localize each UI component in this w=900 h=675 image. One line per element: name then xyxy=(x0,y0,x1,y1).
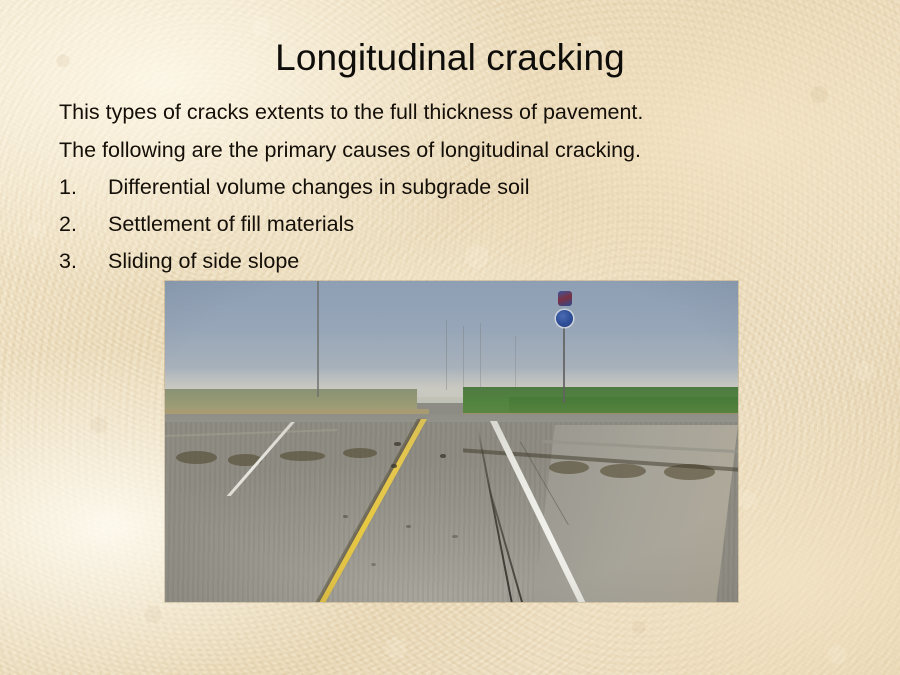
list-item: 2. Settlement of fill materials xyxy=(59,206,759,243)
list-item: 1. Differential volume changes in subgra… xyxy=(59,169,759,206)
causes-list: 1. Differential volume changes in subgra… xyxy=(59,169,759,280)
road-sign-upper-plate-icon xyxy=(558,291,572,306)
utility-pole xyxy=(446,320,447,391)
brush-clump xyxy=(549,461,589,474)
pavement-debris xyxy=(406,525,411,528)
slide-body: This types of cracks extents to the full… xyxy=(59,93,759,280)
slide: Longitudinal cracking This types of crac… xyxy=(0,0,900,675)
brush-clump xyxy=(343,448,377,458)
intro-paragraph-1: This types of cracks extents to the full… xyxy=(59,93,759,131)
list-item-number: 2. xyxy=(59,206,108,243)
list-item-label: Settlement of fill materials xyxy=(108,206,354,243)
brush-clump xyxy=(176,451,216,464)
utility-pole xyxy=(480,323,481,390)
road-longitudinal-crack-photo xyxy=(165,281,738,602)
utility-pole xyxy=(317,281,319,397)
brush-clump xyxy=(280,451,326,461)
pavement-debris xyxy=(452,535,458,538)
list-item-number: 3. xyxy=(59,243,108,280)
intro-paragraph-2: The following are the primary causes of … xyxy=(59,131,759,169)
list-item-number: 1. xyxy=(59,169,108,206)
pavement-debris xyxy=(394,442,401,446)
asphalt-right-shoulder xyxy=(533,425,738,602)
utility-pole xyxy=(515,336,516,391)
list-item: 3. Sliding of side slope xyxy=(59,243,759,280)
page-title: Longitudinal cracking xyxy=(0,36,900,80)
utility-pole xyxy=(463,326,464,390)
list-item-label: Differential volume changes in subgrade … xyxy=(108,169,530,206)
list-item-label: Sliding of side slope xyxy=(108,243,299,280)
